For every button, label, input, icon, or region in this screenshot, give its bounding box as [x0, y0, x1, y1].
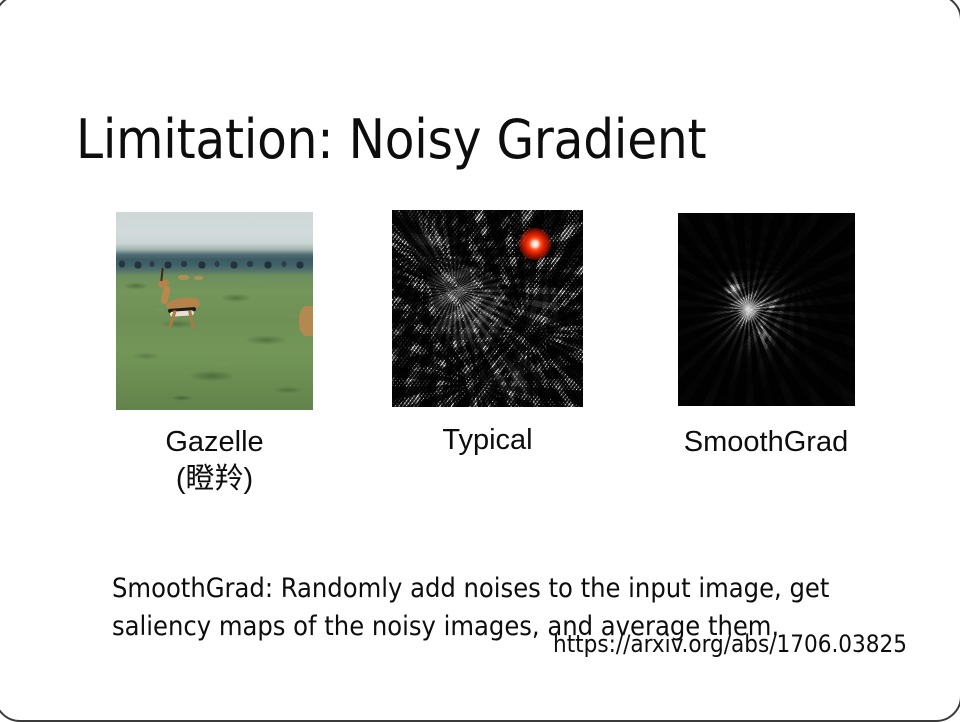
caption-gazelle-line2: (瞪羚) [116, 461, 313, 498]
caption-smoothgrad-line1: SmoothGrad [684, 426, 848, 458]
distant-gazelle-b [194, 276, 203, 280]
typical-saliency-image [392, 210, 583, 407]
figure-smoothgrad [678, 213, 855, 406]
caption-typical-line1: Typical [442, 424, 532, 456]
partial-gazelle-right-edge [299, 306, 313, 336]
noise-grain-overlay [392, 210, 583, 407]
figure-gazelle [116, 212, 313, 410]
gazelle-photo-image [116, 212, 313, 410]
distant-gazelle-a [178, 275, 189, 280]
figure-caption-smoothgrad: SmoothGrad [660, 424, 872, 461]
laser-pointer-icon [519, 228, 551, 260]
page-title: Limitation: Noisy Gradient [76, 110, 706, 169]
source-url-link[interactable]: https://arxiv.org/abs/1706.03825 [553, 630, 907, 658]
caption-gazelle-line1: Gazelle [165, 426, 263, 458]
figure-caption-gazelle: Gazelle (瞪羚) [116, 424, 313, 498]
figure-caption-typical: Typical [392, 422, 583, 459]
noise-grain-overlay [678, 213, 855, 406]
figure-typical [392, 210, 583, 407]
treeline-band [116, 256, 313, 270]
smoothgrad-saliency-image [678, 213, 855, 406]
grass-texture [116, 272, 313, 410]
slide: Limitation: Noisy Gradient Gazelle (瞪羚) [0, 0, 960, 720]
